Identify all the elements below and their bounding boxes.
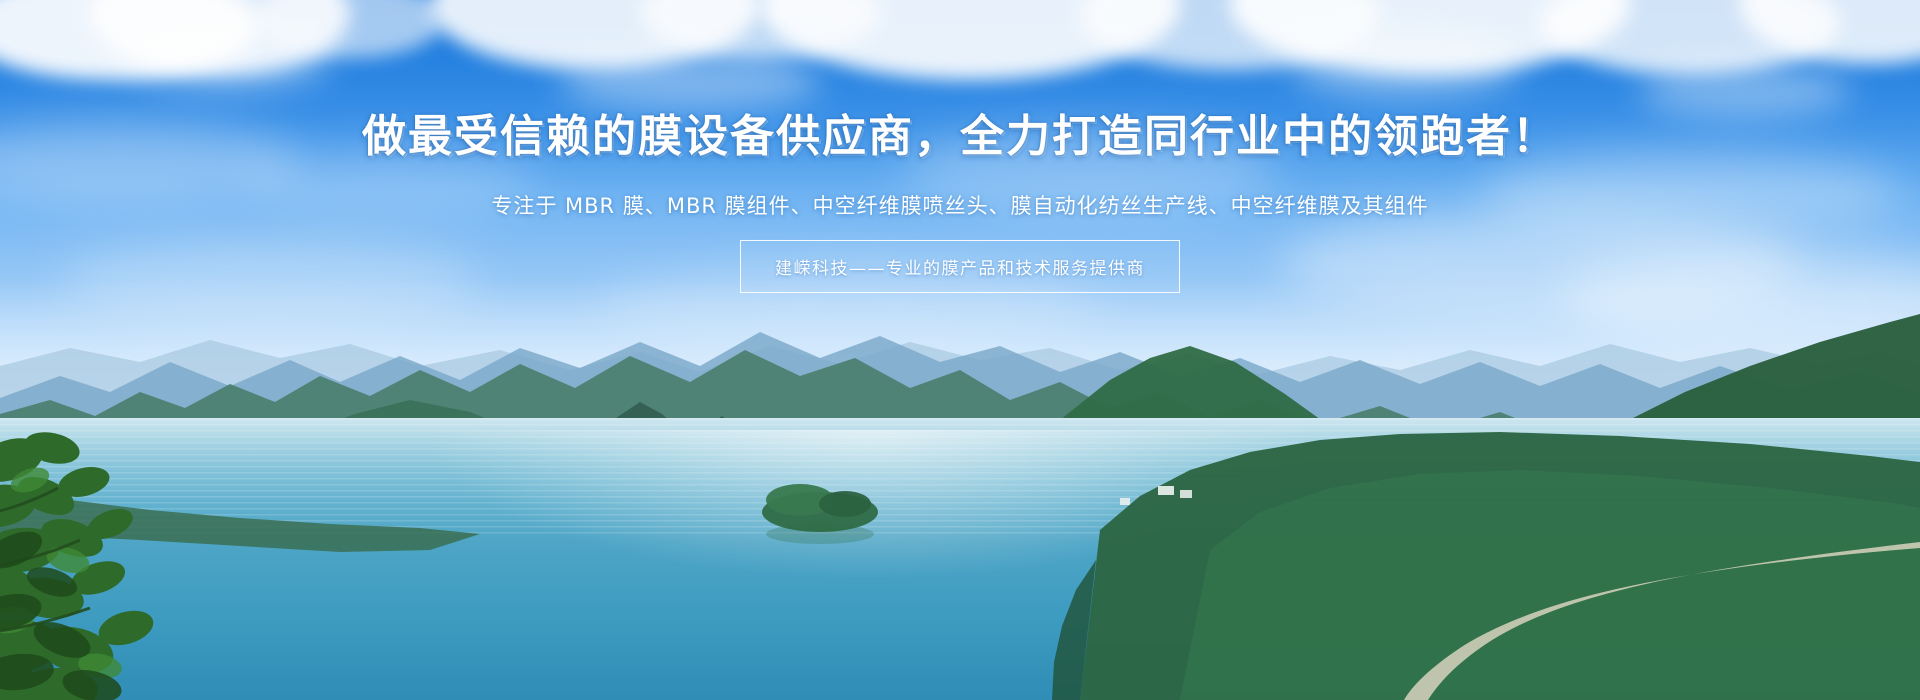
cloud <box>900 130 1280 210</box>
cloud <box>560 52 820 110</box>
hero-banner: 做最受信赖的膜设备供应商，全力打造同行业中的领跑者！ 专注于 MBR 膜、MBR… <box>0 0 1920 700</box>
cloud <box>240 150 540 214</box>
cloud <box>1290 34 1520 96</box>
foreground-leaves-dark <box>0 520 200 700</box>
shoreline-and-islands <box>0 400 1920 700</box>
cloud <box>120 28 330 88</box>
hero-tagline-box[interactable]: 建嵘科技——专业的膜产品和技术服务提供商 <box>740 240 1180 293</box>
cloud <box>1640 64 1850 118</box>
